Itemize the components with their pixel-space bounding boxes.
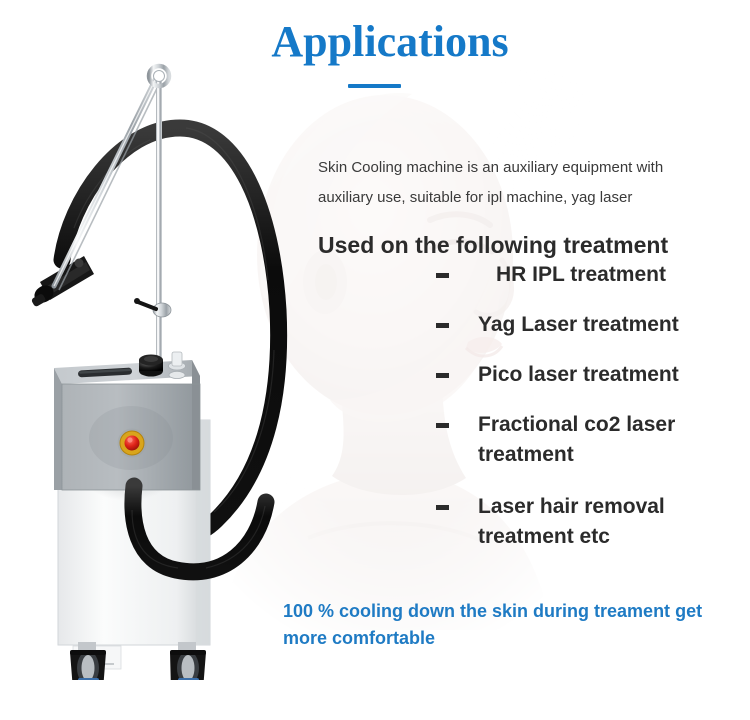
section-subheading: Used on the following treatment (318, 230, 668, 260)
dash-bullet-icon (436, 505, 449, 510)
footer-note: 100 % cooling down the skin during tream… (283, 598, 733, 652)
list-item-label: Laser hair removal treatment etc (478, 495, 665, 548)
applications-slide: Applications Skin Cooling machine is an … (0, 0, 750, 720)
list-item-label: HR IPL treatment (496, 263, 666, 286)
list-item-label: Fractional co2 laser treatment (478, 413, 675, 466)
pole-connectors (169, 352, 186, 379)
list-item-label: Pico laser treatment (478, 363, 679, 386)
red-emergency-stop-button (118, 429, 147, 458)
list-item: Fractional co2 laser treatment (436, 410, 736, 470)
grey-control-box (54, 352, 200, 490)
dash-bullet-icon (436, 323, 449, 328)
list-item: HR IPL treatment (436, 260, 736, 290)
skin-cooling-machine-image (10, 50, 300, 680)
treatment-list: HR IPL treatment Yag Laser treatment Pic… (436, 260, 736, 574)
title-underline (348, 84, 401, 88)
dash-bullet-icon (436, 273, 449, 278)
list-item: Yag Laser treatment (436, 310, 736, 340)
list-item: Laser hair removal treatment etc (436, 492, 736, 552)
dash-bullet-icon (436, 373, 449, 378)
dash-bullet-icon (436, 423, 449, 428)
pole-clamp-knob (134, 298, 171, 317)
intro-paragraph: Skin Cooling machine is an auxiliary equ… (318, 153, 710, 213)
list-item-label: Yag Laser treatment (478, 313, 679, 336)
black-swivel-casters (70, 642, 206, 680)
footer-note-line1: 100 % cooling down the skin during tream… (283, 601, 670, 621)
page-title: Applications (240, 16, 540, 68)
list-item: Pico laser treatment (436, 360, 736, 390)
black-control-knob (139, 355, 163, 377)
